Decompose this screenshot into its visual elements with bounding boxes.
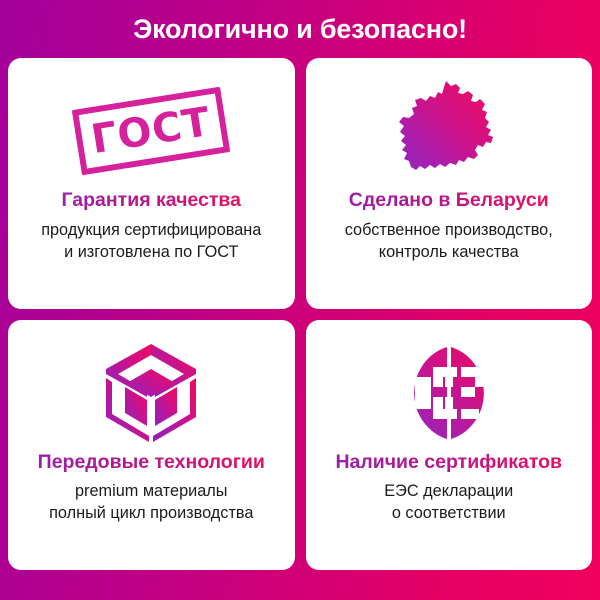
card-desc-line-1: premium материалы (49, 480, 253, 502)
card-desc-advanced-technology: premium материалы полный цикл производст… (49, 480, 253, 524)
card-title-quality-guarantee: Гарантия качества (61, 190, 241, 212)
banner-header: Экологично и безопасно! (0, 0, 600, 58)
card-title-certificates: Наличие сертификатов (335, 452, 562, 474)
hexagon-cube-svg (99, 341, 203, 445)
gost-stamp-icon: ГОСТ (16, 72, 287, 190)
card-desc-line-2: о соответствии (384, 502, 513, 524)
gost-stamp-frame: ГОСТ (72, 87, 230, 176)
hexagon-cube-icon (16, 334, 287, 452)
card-desc-line-2: контроль качества (345, 241, 553, 263)
card-desc-line-1: ЕЭС декларации (384, 480, 513, 502)
belarus-map-svg (390, 79, 508, 183)
feature-card-made-in-belarus[interactable]: Сделано в Беларуси собственное производс… (306, 58, 593, 309)
card-title-advanced-technology: Передовые технологии (38, 452, 265, 474)
page-title: Экологично и безопасно! (133, 16, 467, 43)
card-desc-quality-guarantee: продукция сертифицирована и изготовлена … (41, 219, 261, 263)
card-desc-certificates: ЕЭС декларации о соответствии (384, 480, 513, 524)
stb-certificate-svg (389, 343, 509, 443)
feature-card-certificates[interactable]: Наличие сертификатов ЕЭС декларации о со… (306, 320, 593, 571)
feature-card-quality-guarantee[interactable]: ГОСТ Гарантия качества продукция сертифи… (8, 58, 295, 309)
feature-card-advanced-technology[interactable]: Передовые технологии premium материалы п… (8, 320, 295, 571)
stb-certificate-icon (314, 334, 585, 452)
features-grid: ГОСТ Гарантия качества продукция сертифи… (0, 58, 600, 600)
card-desc-line-2: и изготовлена по ГОСТ (41, 241, 261, 263)
gost-stamp-label: ГОСТ (89, 102, 214, 160)
card-desc-made-in-belarus: собственное производство, контроль качес… (345, 219, 553, 263)
card-desc-line-1: собственное производство, (345, 219, 553, 241)
belarus-map-icon (314, 72, 585, 190)
card-desc-line-1: продукция сертифицирована (41, 219, 261, 241)
promo-banner: Экологично и безопасно! ГОСТ Гарантия ка… (0, 0, 600, 600)
card-title-made-in-belarus: Сделано в Беларуси (349, 190, 549, 212)
card-desc-line-2: полный цикл производства (49, 502, 253, 524)
